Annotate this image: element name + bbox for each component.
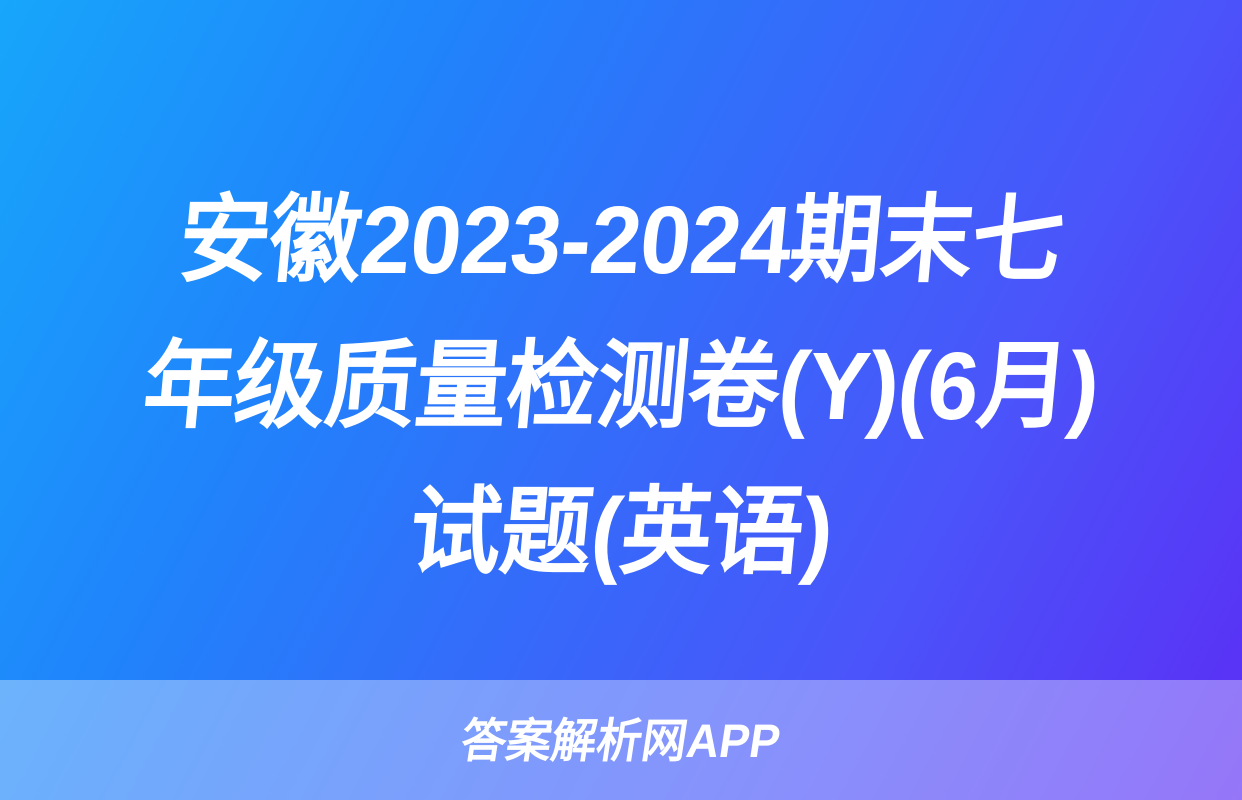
title-block: 安徽2023-2024期末七 年级质量检测卷(Y)(6月) 试题(英语) <box>0 168 1242 638</box>
page-title-line-3: 试题(英语) <box>21 460 1221 606</box>
page-title-line-2: 年级质量检测卷(Y)(6月) <box>21 314 1221 460</box>
footer-watermark-band: 答案解析网APP <box>0 680 1242 800</box>
app-watermark-label: 答案解析网APP <box>458 717 784 764</box>
exam-cover-card: 安徽2023-2024期末七 年级质量检测卷(Y)(6月) 试题(英语) 答案解… <box>0 0 1242 800</box>
page-title-line-1: 安徽2023-2024期末七 <box>21 168 1221 314</box>
